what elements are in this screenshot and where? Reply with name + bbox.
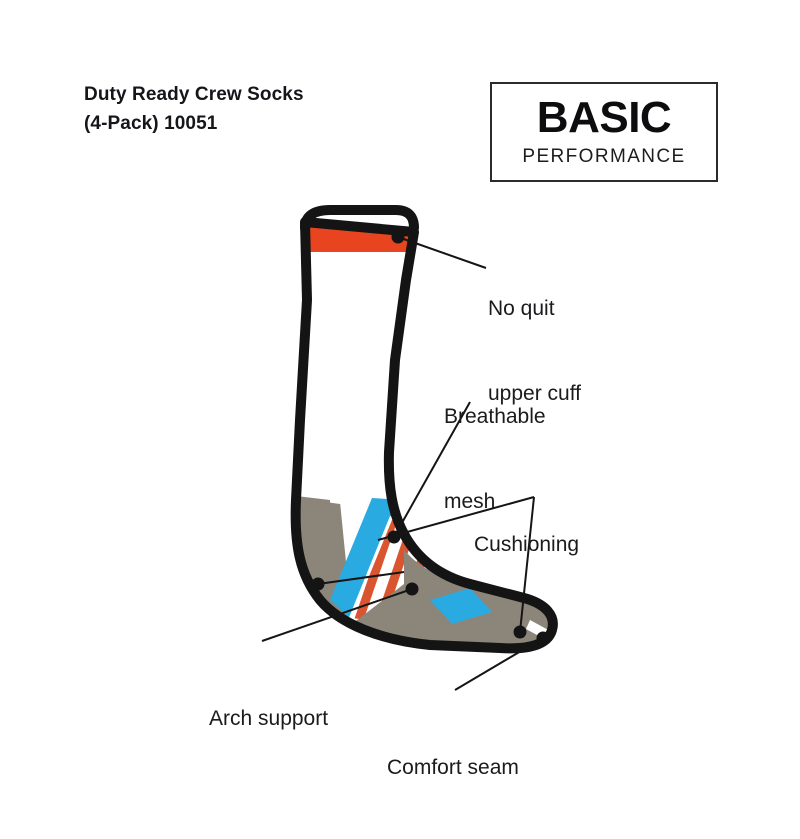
dot-cushioning — [514, 626, 527, 639]
callout-comfort-seam: Comfort seam — [387, 697, 519, 839]
sock-illustration — [0, 0, 800, 800]
dot-heel-cushion — [312, 578, 325, 591]
callout-line1: Arch support — [209, 705, 328, 733]
callout-line1: Breathable — [444, 403, 546, 431]
callout-line1: Comfort seam — [387, 754, 519, 782]
callout-line1: No quit — [488, 295, 581, 323]
product-feature-diagram: Duty Ready Crew Socks (4-Pack) 10051 BAS… — [0, 0, 800, 800]
dot-breathable-mesh — [388, 531, 401, 544]
callout-cushioning: Cushioning — [474, 474, 579, 616]
dot-arch-support — [406, 583, 419, 596]
callout-line1: Cushioning — [474, 531, 579, 559]
dot-no-quit-upper-cuff — [392, 231, 405, 244]
callout-arch-support: Arch support — [209, 648, 328, 790]
dot-comfort-seam — [537, 632, 550, 645]
